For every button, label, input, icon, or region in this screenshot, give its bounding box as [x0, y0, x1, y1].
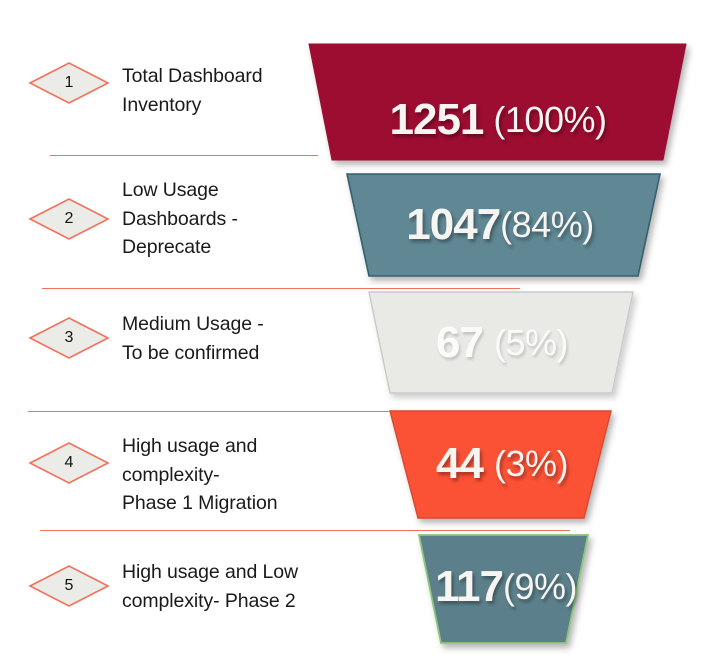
- divider-2: [42, 288, 520, 289]
- segment-value-4: 44 (3%): [404, 436, 600, 492]
- segment-percent-3: (5%): [494, 322, 568, 364]
- divider-3: [28, 411, 390, 412]
- stage-label-2: Low Usage Dashboards - Deprecate: [122, 176, 238, 262]
- funnel-chart: 1 Total Dashboard Inventory 2 Low Usage …: [0, 0, 709, 665]
- segment-percent-5: (9%): [503, 566, 577, 608]
- stage-number-2: 2: [28, 196, 110, 242]
- stage-number-5: 5: [28, 563, 110, 609]
- segment-value-5: 117 (9%): [432, 560, 580, 614]
- stage-label-3: Medium Usage - To be confirmed: [122, 310, 264, 367]
- stage-badge-3: 3: [28, 315, 110, 361]
- segment-percent-2: (84%): [500, 204, 594, 246]
- divider-1: [50, 155, 318, 156]
- stage-number-3: 3: [28, 315, 110, 361]
- segment-number-5: 117: [435, 562, 503, 612]
- stage-number-1: 1: [28, 60, 110, 106]
- stage-badge-5: 5: [28, 563, 110, 609]
- segment-percent-1: (100%): [493, 99, 606, 141]
- segment-value-3: 67 (5%): [382, 315, 622, 371]
- segment-percent-4: (3%): [494, 443, 568, 485]
- segment-value-2: 1047 (84%): [360, 196, 640, 254]
- segment-number-4: 44: [436, 439, 483, 489]
- stage-number-4: 4: [28, 440, 110, 486]
- segment-value-1: 1251 (100%): [330, 90, 666, 150]
- stage-badge-4: 4: [28, 440, 110, 486]
- stage-badge-2: 2: [28, 196, 110, 242]
- segment-number-3: 67: [436, 318, 483, 368]
- stage-label-5: High usage and Low complexity- Phase 2: [122, 558, 298, 615]
- stage-badge-1: 1: [28, 60, 110, 106]
- stage-label-1: Total Dashboard Inventory: [122, 62, 263, 119]
- segment-number-2: 1047: [406, 200, 500, 250]
- divider-4: [40, 530, 570, 531]
- segment-number-1: 1251: [390, 95, 484, 145]
- stage-label-4: High usage and complexity- Phase 1 Migra…: [122, 432, 277, 518]
